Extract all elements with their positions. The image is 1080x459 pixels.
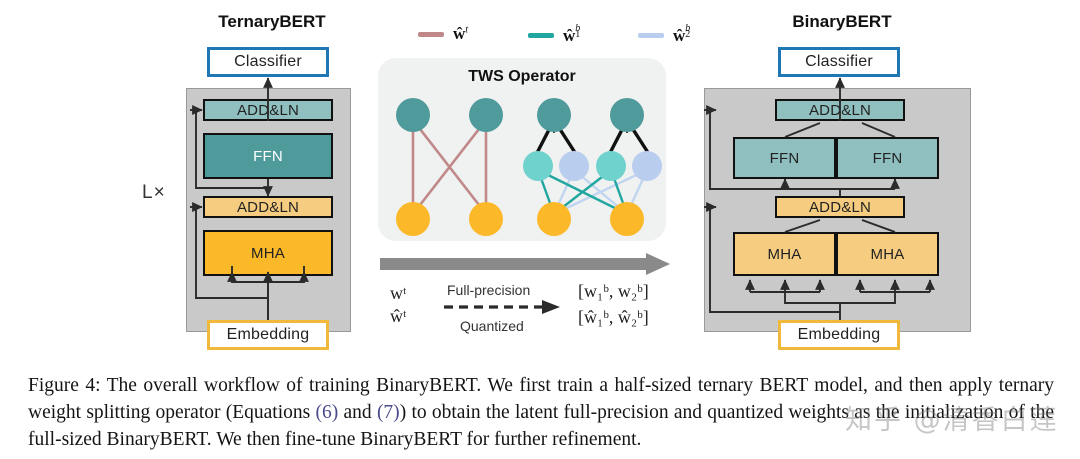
transition-target-full-precision: [w₁ᵇ, w₂ᵇ] [578, 281, 649, 302]
figure-caption: Figure 4: The overall workflow of traini… [28, 372, 1054, 453]
tws-node-teal-dark-r2 [610, 98, 644, 132]
tws-node-teal-dark-l2 [469, 98, 503, 132]
tws-node-teal-dark-l1 [396, 98, 430, 132]
transition-target-quantized: [ŵ₁ᵇ, ŵ₂ᵇ] [578, 307, 649, 328]
caption-ref-7: (7) [377, 402, 400, 423]
transition-label-full-precision: Full-precision [447, 282, 530, 298]
transition-big-arrow [378, 252, 673, 282]
legend-swatch-ternary [418, 32, 444, 37]
tws-node-blue-light-r1 [559, 151, 589, 181]
tws-node-teal-light-r1 [523, 151, 553, 181]
legend-label-ternary: ŵt [453, 24, 468, 44]
tws-node-teal-dark-r1 [537, 98, 571, 132]
tws-node-orange-r1 [537, 202, 571, 236]
ternarybert-connectors [0, 0, 400, 366]
tws-ternary-edges [413, 120, 486, 214]
legend-item-w-hat-binary-1: ŵb1 [528, 24, 584, 46]
legend-swatch-binary-1 [528, 33, 554, 38]
figure-canvas: TernaryBERT Classifier L× ADD&LN FFN ADD… [0, 0, 1080, 366]
transition-source-quantized: ŵᵗ [390, 306, 406, 327]
transition-source-full-precision: wᵗ [390, 283, 406, 304]
tws-node-orange-l2 [469, 202, 503, 236]
transition-label-quantized: Quantized [460, 318, 524, 334]
legend-label-binary-1: ŵb1 [563, 24, 584, 46]
transition-dashed-arrow [442, 299, 567, 317]
legend-item-w-hat-ternary: ŵt [418, 24, 468, 44]
tws-node-orange-l1 [396, 202, 430, 236]
tws-node-teal-light-r2 [596, 151, 626, 181]
tws-operator-graph: + + [378, 58, 666, 241]
caption-text-2: and [338, 402, 377, 423]
tws-node-orange-r2 [610, 202, 644, 236]
binarybert-connectors [640, 0, 1080, 366]
caption-ref-6: (6) [316, 402, 339, 423]
